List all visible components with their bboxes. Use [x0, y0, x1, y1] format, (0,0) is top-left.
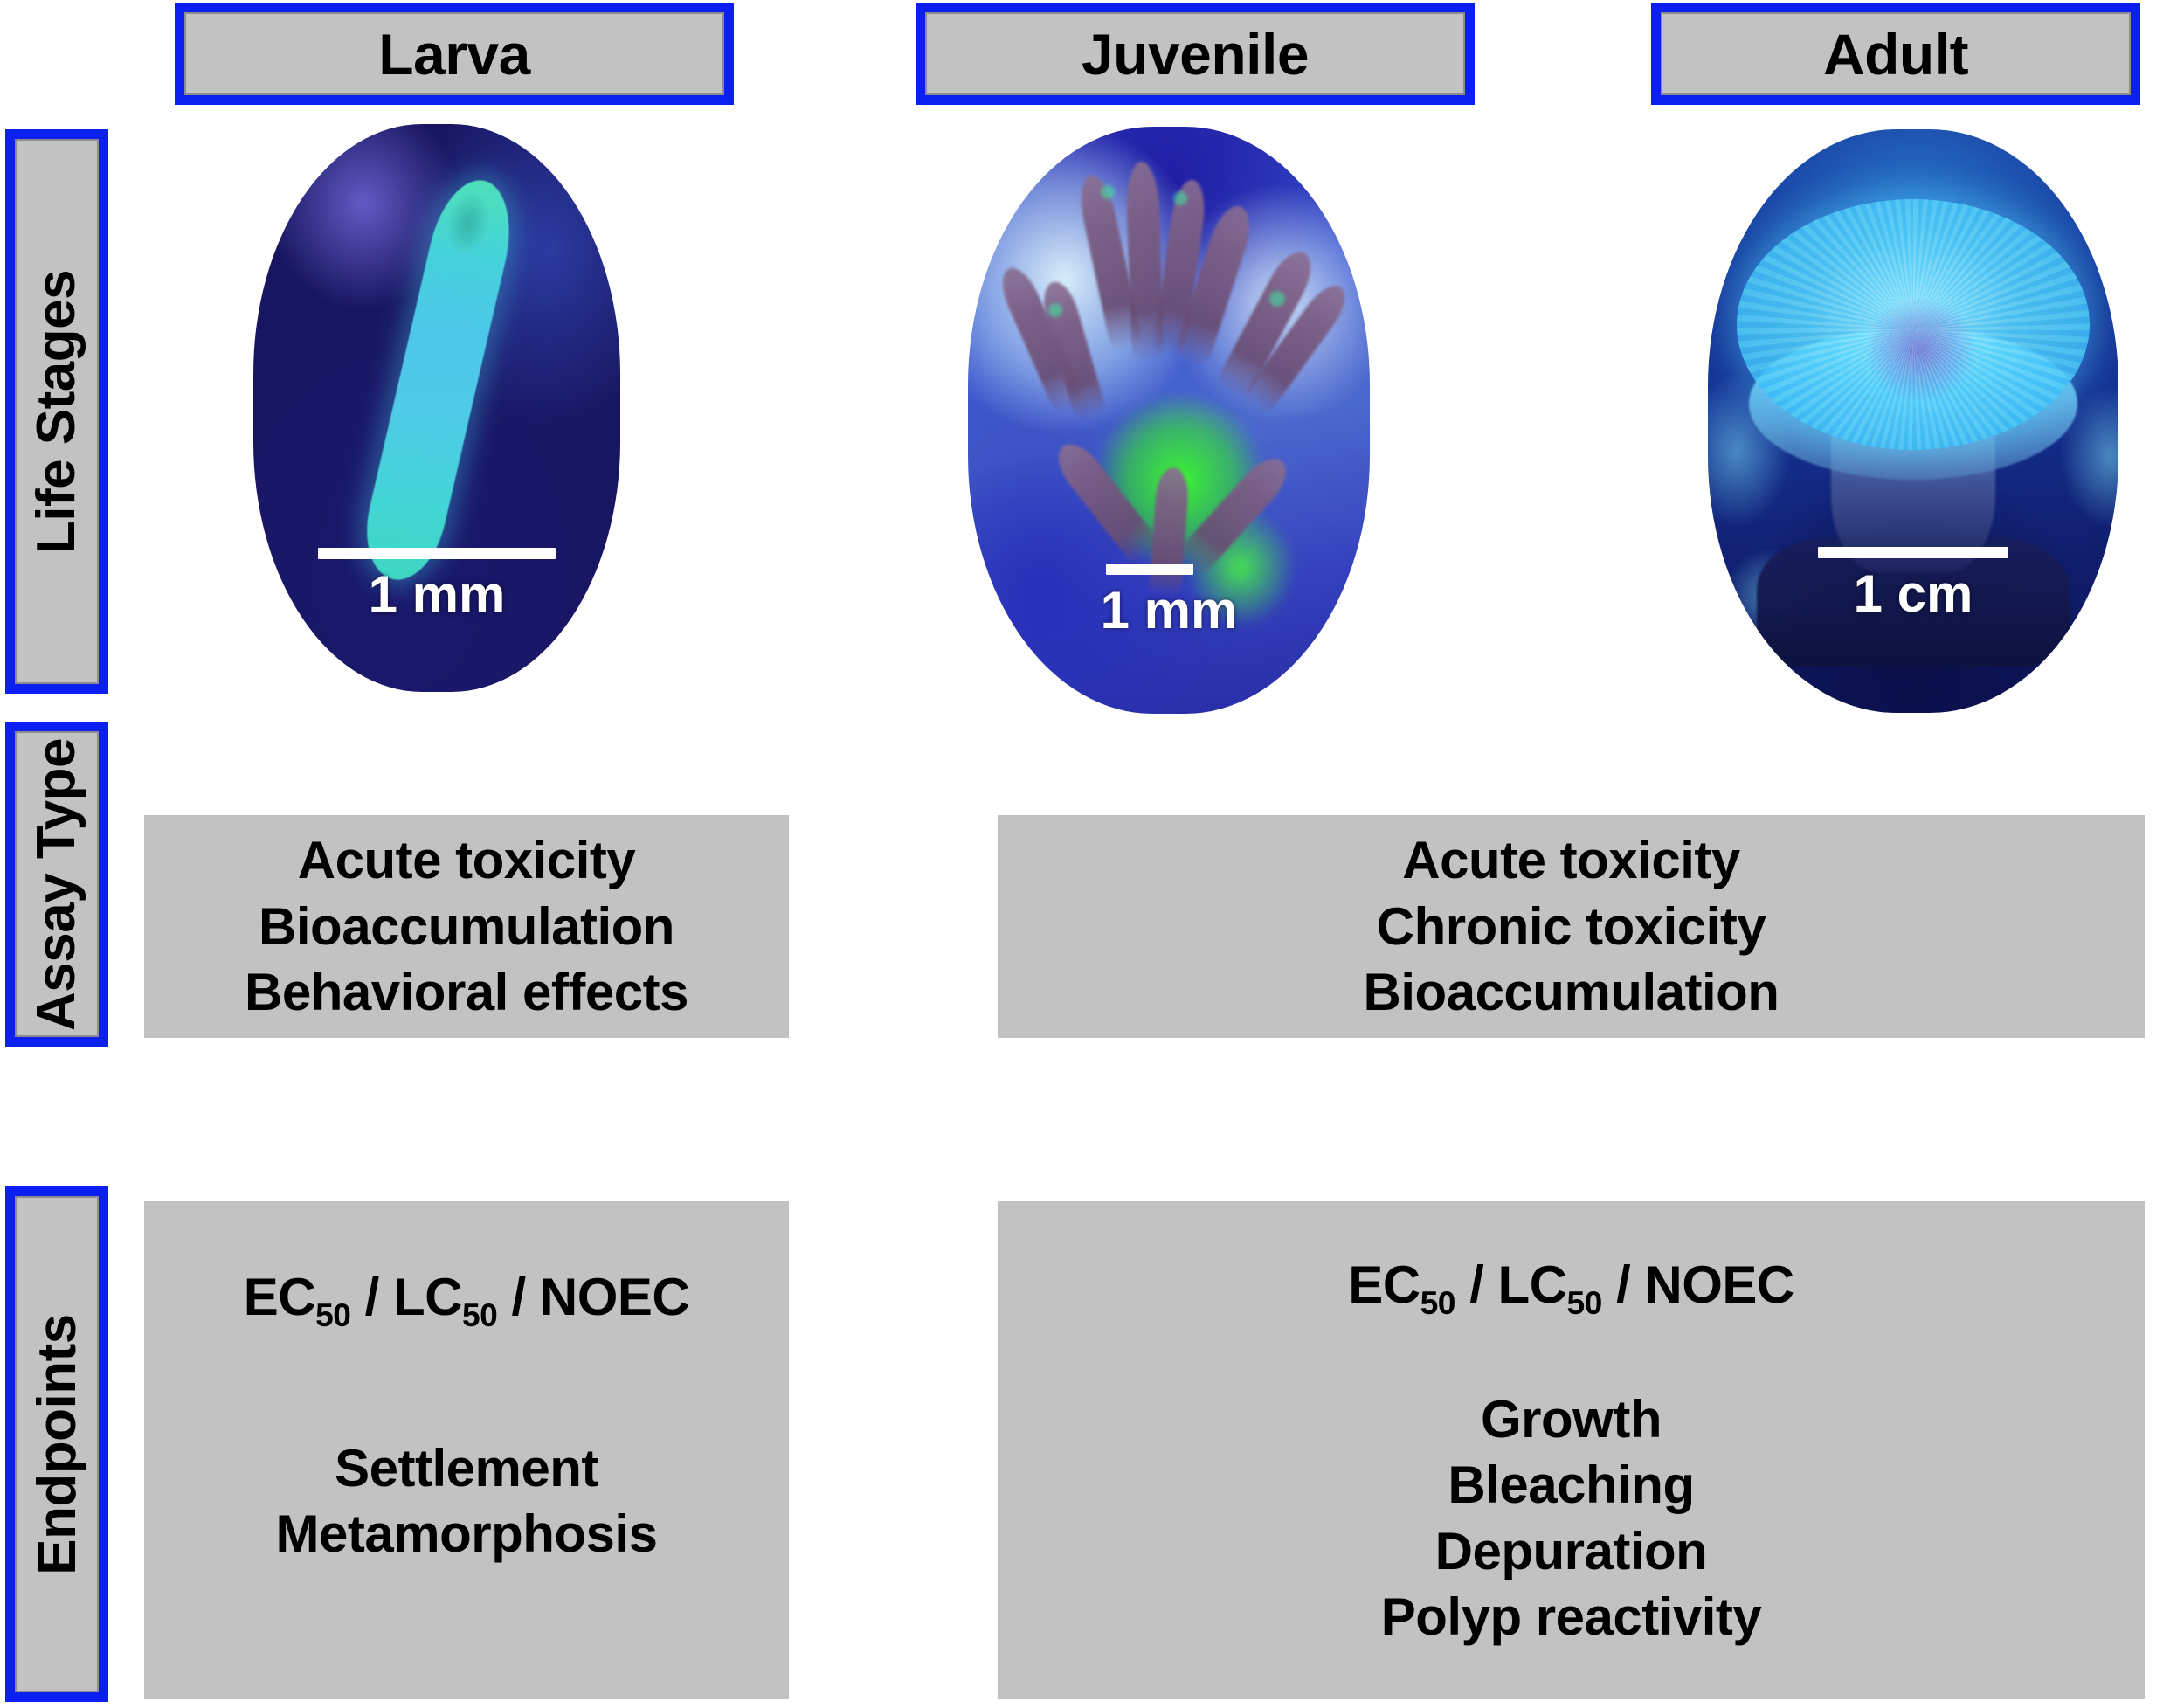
- assay-juvenile-adult-line-2: Chronic toxicity: [998, 894, 2145, 960]
- scalebar-label: 1 mm: [253, 564, 620, 625]
- photo-larva: 1 mm: [253, 124, 620, 692]
- endpoints-ja-gap: [998, 1318, 2145, 1386]
- scalebar-larva: 1 mm: [253, 548, 620, 625]
- row-label-assay-type-text: Assay Type: [26, 737, 88, 1030]
- column-header-juvenile: Juvenile: [916, 3, 1475, 105]
- juvenile-tentacle-tip: [1048, 303, 1062, 317]
- endpoints-larva-lc-subscript: 50: [462, 1297, 497, 1333]
- scalebar-juvenile: 1 mm: [968, 564, 1370, 640]
- endpoints-ja-line-2: Bleaching: [998, 1452, 2145, 1518]
- row-label-life-stages-text: Life Stages: [26, 269, 88, 553]
- endpoints-larva-primary: EC50 / LC50 / NOEC: [144, 1264, 789, 1331]
- row-label-endpoints: Endpoints: [5, 1186, 108, 1702]
- endpoints-ja-line-4: Polyp reactivity: [998, 1584, 2145, 1650]
- endpoints-ja-suffix: / NOEC: [1602, 1255, 1794, 1314]
- assay-juvenile-adult-line-3: Bioaccumulation: [998, 959, 2145, 1026]
- juvenile-tentacle-tip: [1173, 191, 1187, 205]
- row-label-endpoints-text: Endpoints: [26, 1314, 88, 1575]
- endpoints-ja-ec-subscript: 50: [1420, 1284, 1455, 1321]
- scalebar-label: 1 mm: [968, 580, 1370, 640]
- scalebar-line: [1106, 564, 1193, 575]
- assay-larva-line-3: Behavioral effects: [144, 959, 789, 1026]
- column-header-juvenile-label: Juvenile: [1082, 21, 1309, 87]
- column-header-adult: Adult: [1651, 3, 2140, 105]
- juvenile-tentacle-tip: [1101, 185, 1115, 199]
- scalebar-line: [318, 548, 556, 559]
- endpoints-larva-ec-prefix: EC: [244, 1268, 315, 1326]
- endpoints-ja-line-1: Growth: [998, 1386, 2145, 1453]
- endpoints-larva-gap: [144, 1331, 789, 1435]
- larva-body-shape: [355, 172, 522, 588]
- endpoints-juvenile-adult-primary: EC50 / LC50 / NOEC: [998, 1252, 2145, 1318]
- endpoints-ja-lc-subscript: 50: [1567, 1284, 1602, 1321]
- row-label-assay-type: Assay Type: [5, 722, 108, 1047]
- endpoints-larva-ec-subscript: 50: [315, 1297, 350, 1333]
- scalebar-label: 1 cm: [1708, 564, 2118, 624]
- endpoints-ja-ec-prefix: EC: [1348, 1255, 1420, 1314]
- assay-juvenile-adult-line-1: Acute toxicity: [998, 827, 2145, 894]
- endpoints-larva-line-2: Metamorphosis: [144, 1501, 789, 1567]
- assay-larva-line-1: Acute toxicity: [144, 827, 789, 894]
- column-header-larva: Larva: [175, 3, 734, 105]
- endpoints-larva-suffix: / NOEC: [497, 1268, 689, 1326]
- endpoints-ja-line-3: Depuration: [998, 1518, 2145, 1585]
- endpoints-panel-juvenile-adult: EC50 / LC50 / NOEC Growth Bleaching Depu…: [998, 1201, 2145, 1699]
- scalebar-line: [1818, 547, 2008, 558]
- endpoints-larva-line-1: Settlement: [144, 1435, 789, 1502]
- column-header-adult-label: Adult: [1823, 21, 1968, 87]
- assay-panel-larva: Acute toxicity Bioaccumulation Behaviora…: [144, 815, 789, 1038]
- endpoints-ja-mid: / LC: [1455, 1255, 1567, 1314]
- adult-oral-disc: [1737, 199, 2090, 450]
- assay-panel-juvenile-adult: Acute toxicity Chronic toxicity Bioaccum…: [998, 815, 2145, 1038]
- endpoints-panel-larva: EC50 / LC50 / NOEC Settlement Metamorpho…: [144, 1201, 789, 1699]
- photo-adult: 1 cm: [1708, 129, 2118, 713]
- assay-larva-line-2: Bioaccumulation: [144, 894, 789, 960]
- column-header-larva-label: Larva: [378, 21, 530, 87]
- photo-juvenile: 1 mm: [968, 127, 1370, 714]
- scalebar-adult: 1 cm: [1708, 547, 2118, 624]
- row-label-life-stages: Life Stages: [5, 129, 108, 694]
- figure-root: Larva Juvenile Adult Life Stages Assay T…: [0, 0, 2184, 1708]
- endpoints-larva-mid: / LC: [351, 1268, 463, 1326]
